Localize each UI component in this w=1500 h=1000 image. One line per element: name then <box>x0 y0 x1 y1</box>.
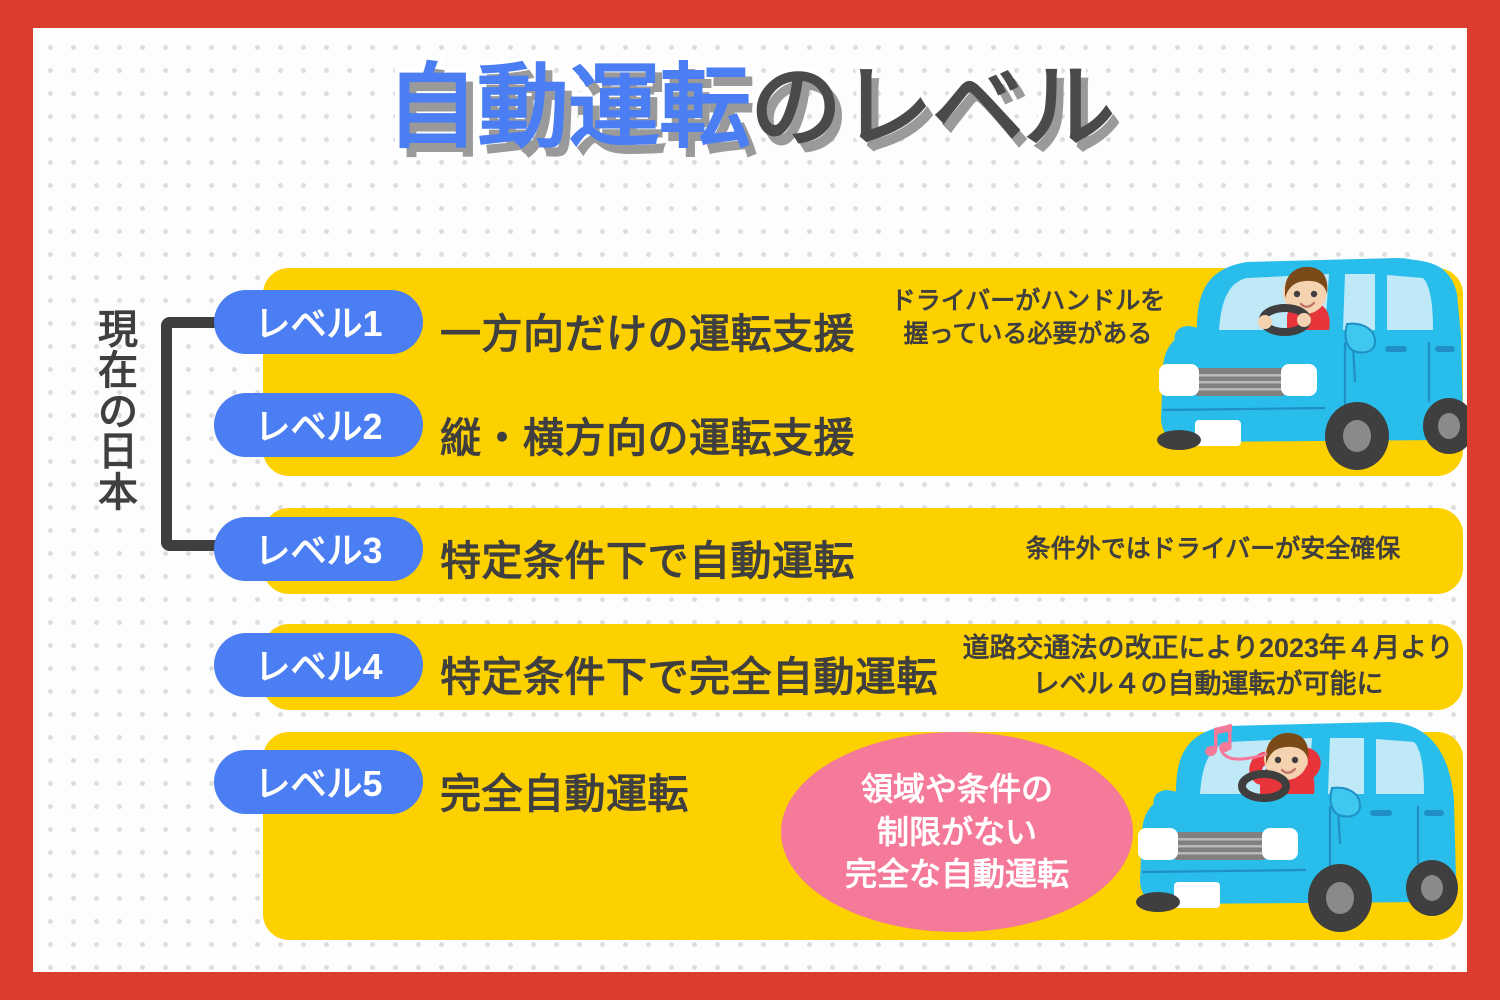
car-illustration-relaxed-driver <box>1114 714 1467 946</box>
level-title-4: 特定条件下で完全自動運転 <box>440 643 938 703</box>
level-note-4: 道路交通法の改正により2023年４月より レベル４の自動運転が可能に <box>938 631 1467 702</box>
level-note-1: ドライバーがハンドルを 握っている必要がある <box>878 285 1178 351</box>
side-label-char-4: 日 <box>90 432 146 473</box>
side-label-char-2: 在 <box>90 351 146 392</box>
current-japan-label: 現 在 の 日 本 <box>90 310 146 514</box>
level-title-5: 完全自動運転 <box>440 760 689 820</box>
level-badge-1[interactable]: レベル1 <box>214 290 423 354</box>
page-title: 自動運転のレベル <box>33 60 1467 157</box>
level-badge-4[interactable]: レベル4 <box>214 633 423 697</box>
grouping-bracket <box>161 317 223 551</box>
infographic-poster: 自動運転のレベル 現 在 の 日 本 <box>0 0 1500 1000</box>
side-label-char-1: 現 <box>90 310 146 351</box>
title-highlight: 自動運転 <box>386 57 750 159</box>
level-title-2: 縦・横方向の運転支援 <box>440 404 855 464</box>
level5-highlight-bubble: 領域や条件の 制限がない 完全な自動運転 <box>781 732 1133 932</box>
car-illustration-driver-hands-on-wheel <box>1139 250 1467 488</box>
side-label-char-3: の <box>90 392 146 433</box>
level-title-1: 一方向だけの運転支援 <box>440 300 855 360</box>
level-title-3: 特定条件下で自動運転 <box>440 527 855 587</box>
level-badge-5[interactable]: レベル5 <box>214 750 423 814</box>
side-label-char-5: 本 <box>90 473 146 514</box>
level-badge-2[interactable]: レベル2 <box>214 393 423 457</box>
level-badge-3[interactable]: レベル3 <box>214 517 423 581</box>
level-note-3: 条件外ではドライバーが安全確保 <box>993 533 1433 566</box>
title-rest: のレベル <box>750 57 1114 159</box>
dotted-canvas: 自動運転のレベル 現 在 の 日 本 <box>33 28 1467 972</box>
